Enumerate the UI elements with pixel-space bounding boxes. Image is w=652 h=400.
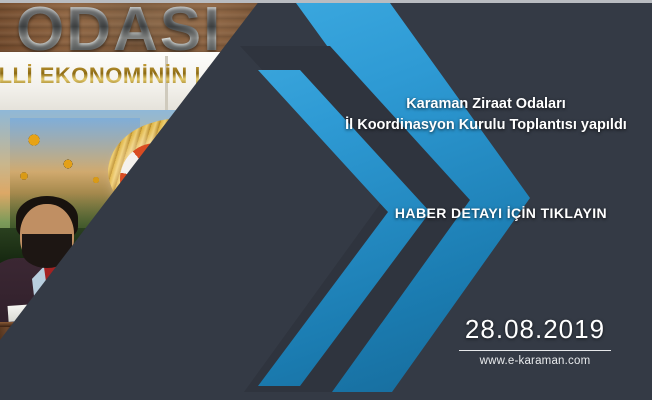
footer-divider	[459, 350, 611, 351]
publish-date: 28.08.2019	[440, 314, 630, 345]
top-edge-strip	[0, 0, 652, 3]
footer-block: 28.08.2019 www.e-karaman.com	[440, 314, 630, 367]
headline-line-1: Karaman Ziraat Odaları	[330, 94, 642, 115]
read-more-link[interactable]: HABER DETAYI İÇİN TIKLAYIN	[356, 205, 646, 221]
news-banner[interactable]: ODASI İLLİ EKONOMİNİN | TEMELİ TA	[0, 0, 652, 400]
headline-line-2: İl Koordinasyon Kurulu Toplantısı yapıld…	[330, 115, 642, 136]
website-url[interactable]: www.e-karaman.com	[440, 355, 630, 367]
headline: Karaman Ziraat Odaları İl Koordinasyon K…	[330, 94, 642, 136]
